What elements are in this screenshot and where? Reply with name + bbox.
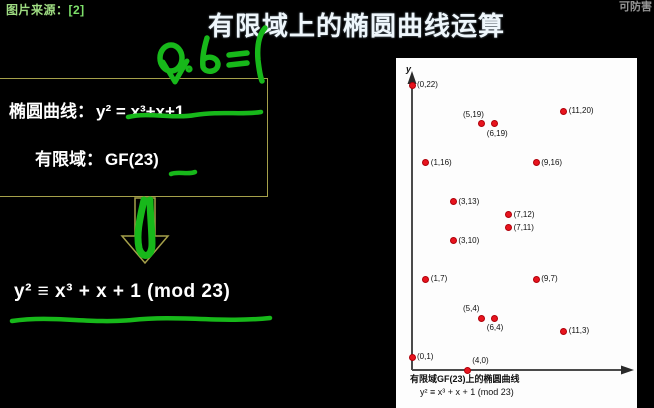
watermark: 可防害 (619, 0, 652, 14)
data-point-label: (11,3) (569, 326, 589, 335)
data-point-label: (7,12) (514, 210, 535, 219)
data-point-label: (0,22) (417, 80, 438, 89)
data-point (478, 120, 485, 127)
field-value: GF(23) (105, 150, 159, 169)
definition-row-field: 有限域：GF(23) (35, 145, 159, 170)
curve-equation: y² = x³+x+1 (96, 102, 184, 121)
data-point-label: (1,7) (431, 274, 447, 283)
handwritten-underline-bottom-ink (8, 312, 276, 328)
data-point-label: (3,13) (458, 197, 479, 206)
data-point (409, 82, 416, 89)
data-point-label: (5,19) (463, 110, 484, 119)
data-point-label: (5,4) (463, 304, 479, 313)
source-credit: 图片来源：[2] (6, 1, 85, 18)
y-axis-label: y (406, 64, 411, 74)
data-point-label: (6,19) (487, 129, 508, 138)
data-point (533, 276, 540, 283)
source-credit-text: 图片来源： (6, 3, 69, 17)
curve-label: 椭圆曲线： (9, 102, 94, 121)
definition-row-curve: 椭圆曲线：y² = x³+x+1 (9, 97, 184, 122)
data-point (560, 328, 567, 335)
data-point-label: (6,4) (487, 323, 503, 332)
data-point-label: (4,0) (472, 356, 488, 365)
data-point (450, 237, 457, 244)
field-label: 有限域： (35, 150, 103, 169)
data-point (491, 315, 498, 322)
bottom-equation: y² ≡ x³ + x + 1 (mod 23) (14, 281, 230, 303)
data-point-label: (9,7) (541, 274, 557, 283)
data-point (450, 198, 457, 205)
source-credit-reference: [2] (69, 3, 85, 17)
caption-line-1: 有限域GF(23)上的椭圆曲线 (410, 372, 635, 385)
data-point-label: (1,16) (431, 158, 452, 167)
figure-caption: 有限域GF(23)上的椭圆曲线 y² ≡ x³ + x + 1 (mod 23) (410, 372, 635, 397)
data-point (560, 108, 567, 115)
data-point-label: (9,16) (541, 158, 562, 167)
data-point-label: (11,20) (569, 106, 594, 115)
data-point-label: (0,1) (417, 352, 433, 361)
down-arrow-shape (110, 196, 180, 268)
data-point (533, 159, 540, 166)
caption-line-2: y² ≡ x³ + x + 1 (mod 23) (420, 387, 635, 397)
data-point (478, 315, 485, 322)
figure-panel: y x (0,22)(11,20)(5,19)(6,19)(1,16)(9,16… (396, 58, 637, 408)
data-point-label: (7,11) (514, 223, 534, 232)
page-title: 有限域上的椭圆曲线运算 (208, 6, 505, 43)
data-point-label: (3,10) (458, 236, 479, 245)
data-point (409, 354, 416, 361)
slide-canvas: 图片来源：[2] 有限域上的椭圆曲线运算 可防害 椭圆曲线：y² = x³+x+… (0, 0, 654, 408)
definition-box: 椭圆曲线：y² = x³+x+1 有限域：GF(23) (0, 78, 268, 197)
